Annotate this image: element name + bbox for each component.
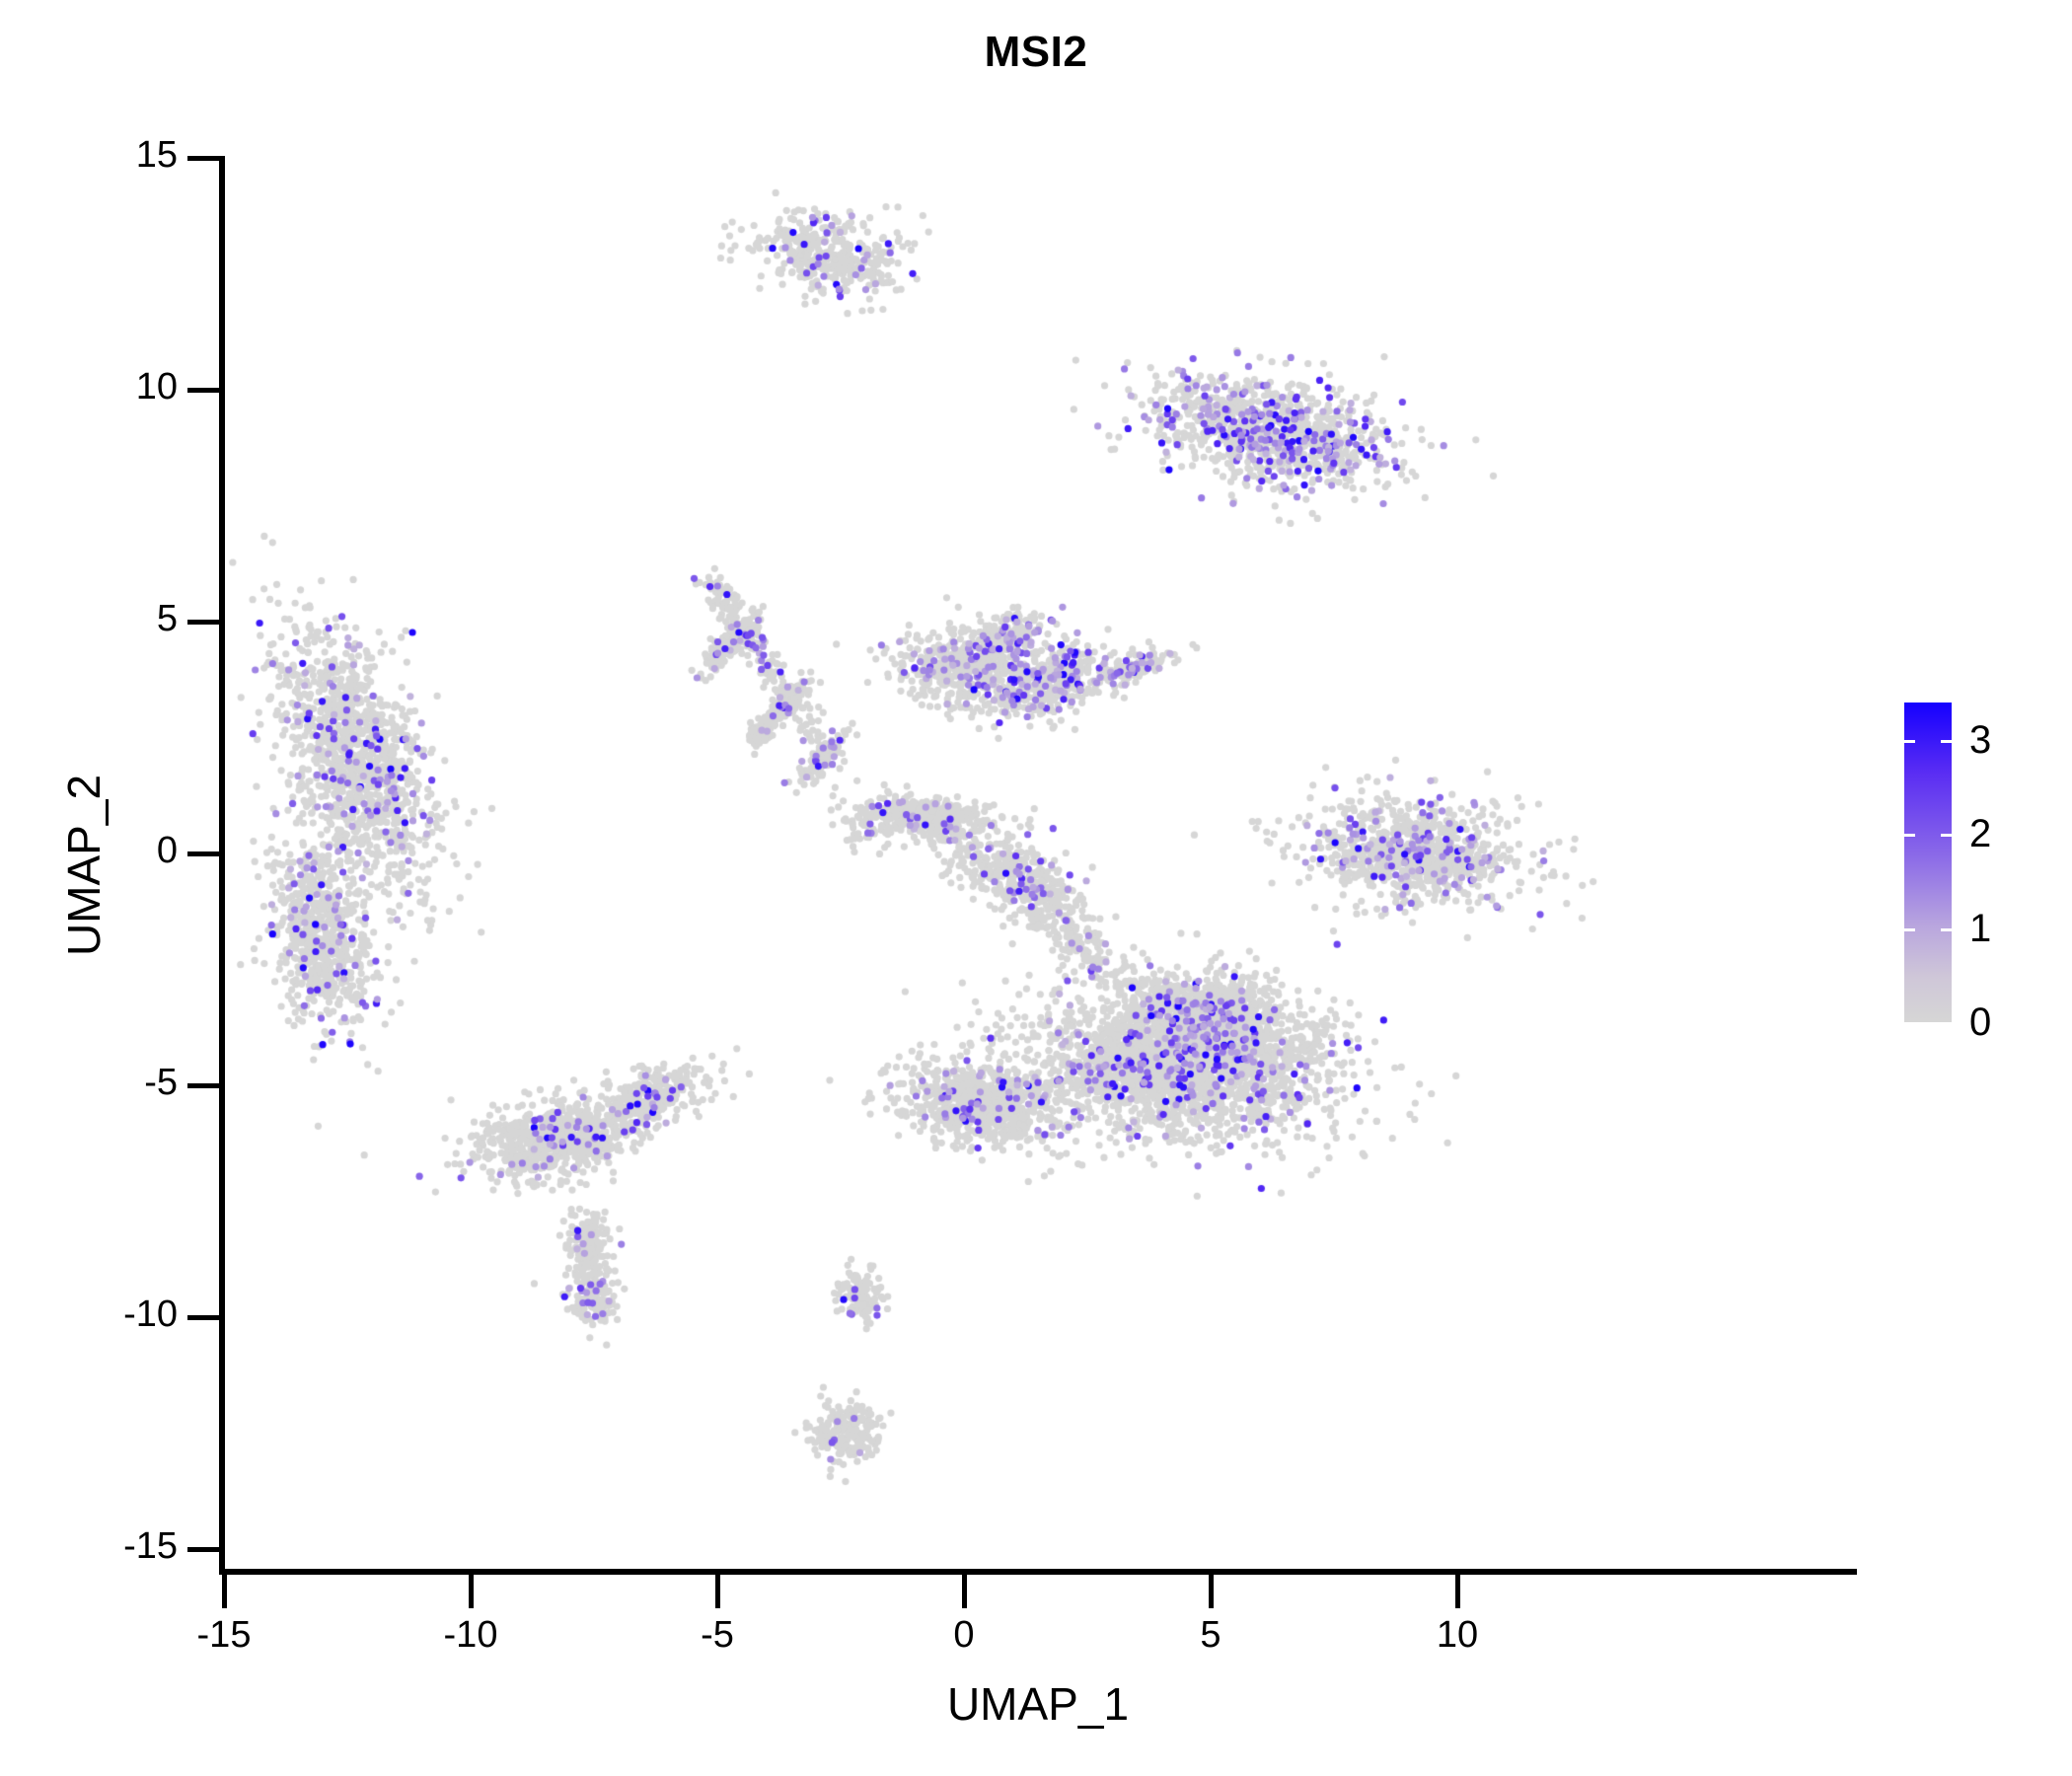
- x-tick-mark: [715, 1575, 720, 1608]
- y-tick-mark: [187, 620, 221, 625]
- colorbar-gradient: [1904, 703, 1952, 1022]
- x-axis-title: UMAP_1: [219, 1677, 1857, 1731]
- colorbar-tick-label: 3: [1969, 720, 1991, 760]
- y-tick-mark: [187, 388, 221, 393]
- colorbar-tick-mark: [1904, 834, 1952, 837]
- y-tick-mark: [187, 1547, 221, 1552]
- y-tick-mark: [187, 851, 221, 856]
- y-tick-mark: [187, 1315, 221, 1320]
- x-tick-label: 5: [1112, 1614, 1309, 1657]
- x-tick-label: -10: [372, 1614, 569, 1657]
- y-axis-title: UMAP_2: [57, 471, 111, 1260]
- y-tick-label: -10: [10, 1294, 178, 1336]
- y-tick-mark: [187, 1083, 221, 1088]
- colorbar-tick-mark: [1904, 928, 1952, 931]
- x-tick-label: -5: [619, 1614, 816, 1657]
- y-tick-label: -15: [10, 1525, 178, 1568]
- x-tick-mark: [962, 1575, 967, 1608]
- y-tick-label: 15: [10, 134, 178, 177]
- y-tick-mark: [187, 156, 221, 161]
- x-axis-line: [219, 1569, 1857, 1575]
- x-tick-label: 10: [1359, 1614, 1556, 1657]
- colorbar-tick-mark: [1904, 740, 1952, 743]
- x-tick-label: 0: [865, 1614, 1063, 1657]
- x-tick-mark: [1455, 1575, 1460, 1608]
- colorbar-legend: 3210: [1904, 703, 2052, 1028]
- colorbar-tick-label: 1: [1969, 909, 1991, 948]
- colorbar-tick-label: 2: [1969, 814, 1991, 853]
- x-tick-mark: [469, 1575, 474, 1608]
- y-axis-line: [219, 156, 225, 1575]
- y-tick-label: 10: [10, 366, 178, 408]
- colorbar-tick-label: 0: [1969, 1002, 1991, 1042]
- umap-feature-plot: MSI2 151050-5-10-15 -15-10-50510 UMAP_1 …: [0, 0, 2072, 1776]
- x-tick-mark: [222, 1575, 227, 1608]
- scatter-plot-canvas: [0, 0, 2072, 1776]
- x-tick-mark: [1209, 1575, 1214, 1608]
- x-tick-label: -15: [125, 1614, 323, 1657]
